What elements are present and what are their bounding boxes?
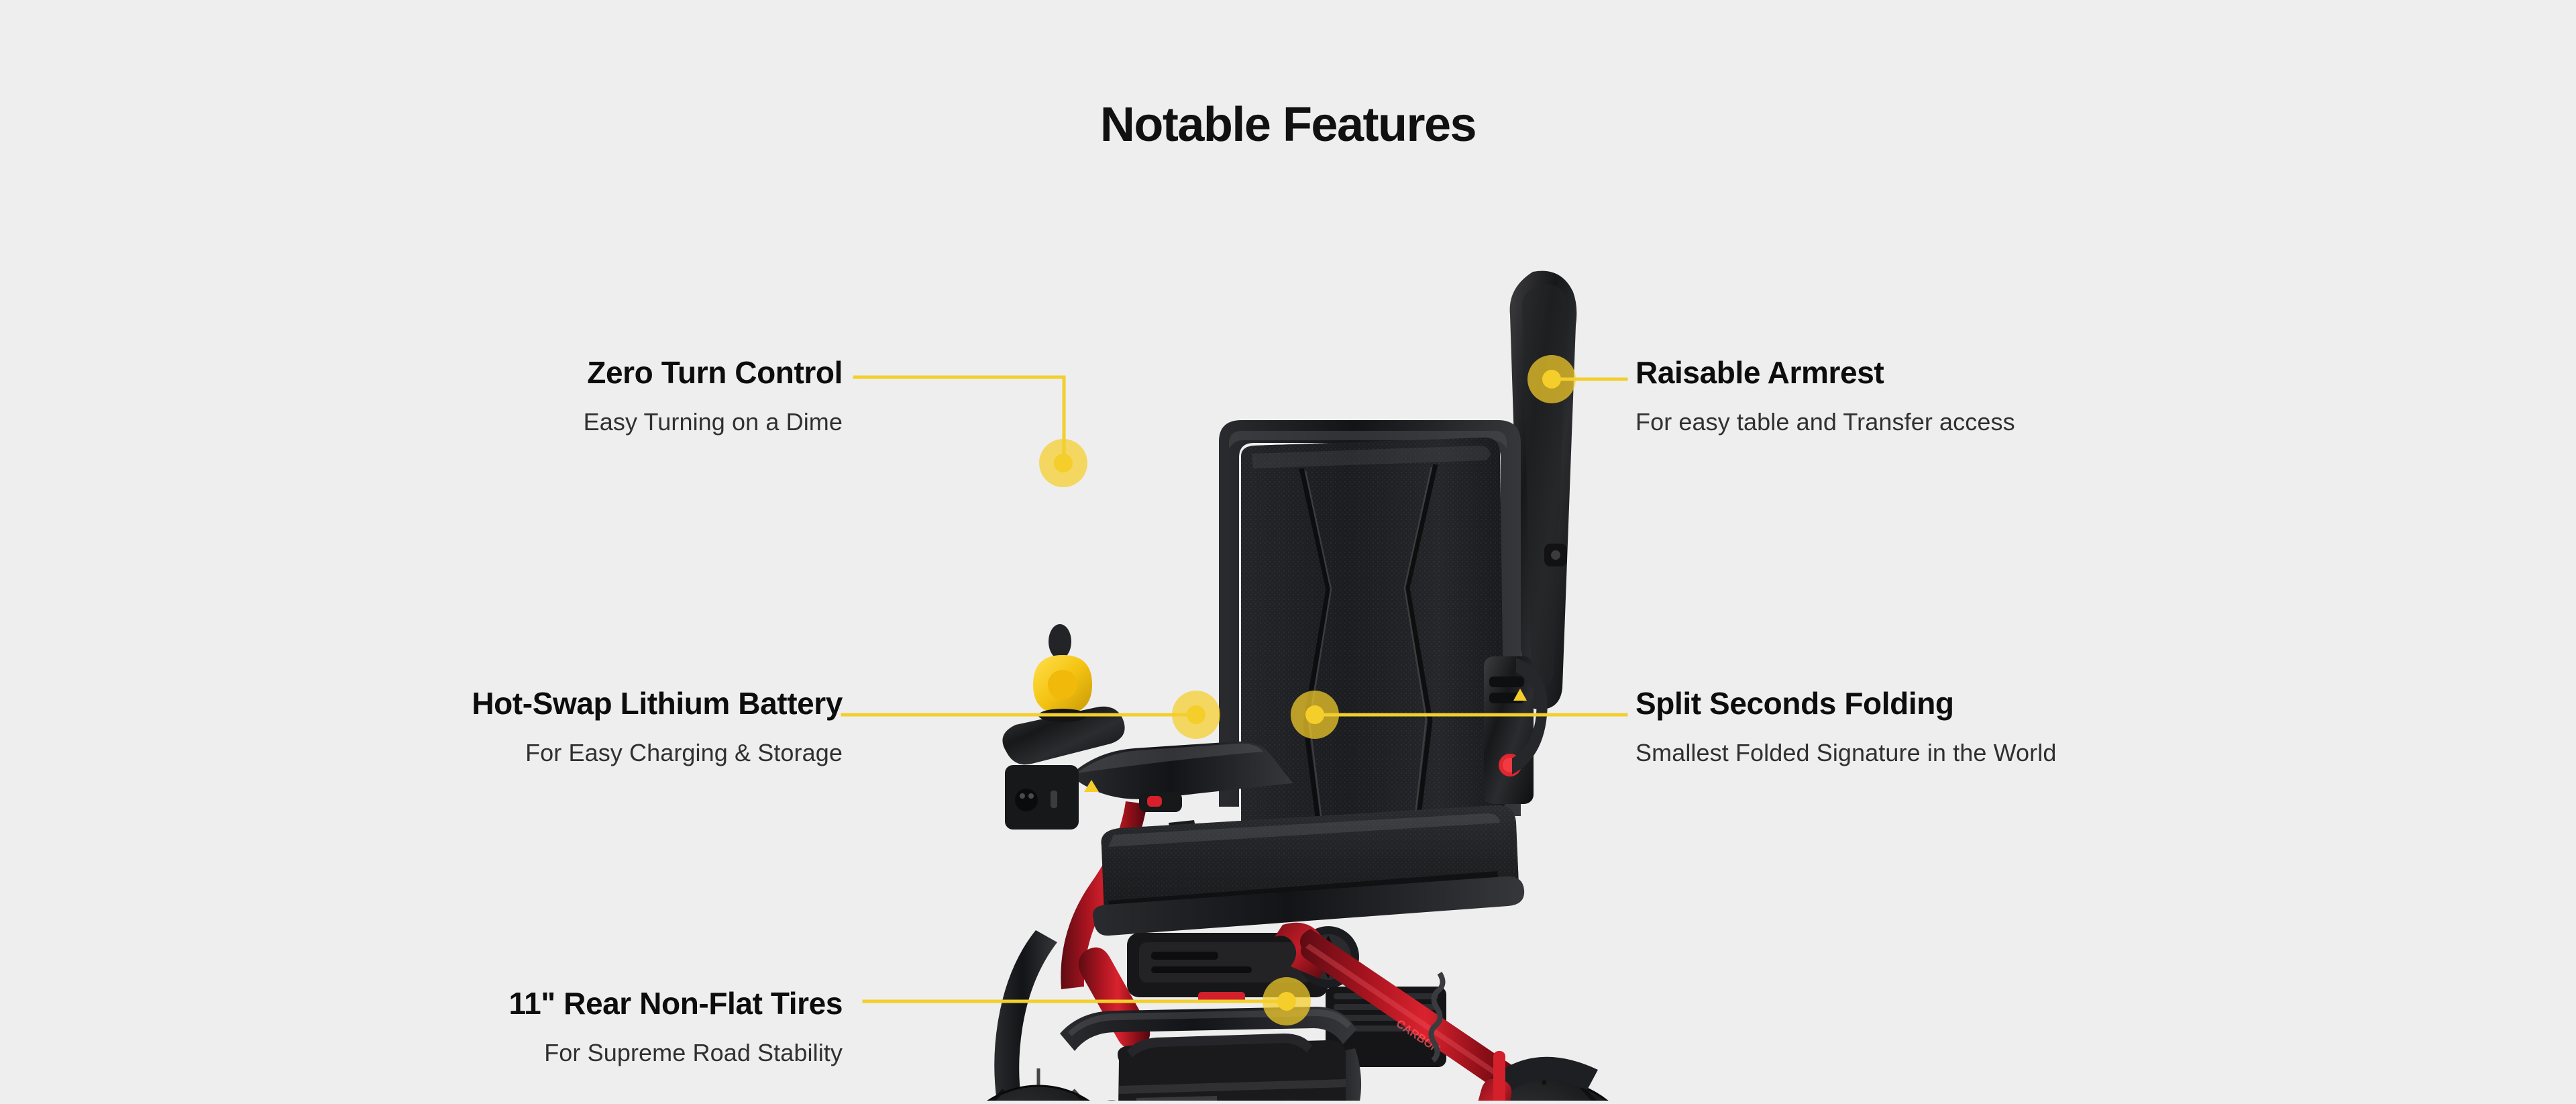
rear-release-pin — [1493, 1051, 1505, 1101]
wheelchair-illustration: CARBON — [926, 255, 1637, 1101]
feature-subtitle: For Easy Charging & Storage — [472, 740, 843, 766]
feature-zero-turn-control: Zero Turn Control Easy Turning on a Dime — [584, 356, 843, 435]
feature-title: 11" Rear Non-Flat Tires — [509, 987, 843, 1021]
feature-title: Zero Turn Control — [584, 356, 843, 390]
feature-title: Raisable Armrest — [1635, 356, 2015, 390]
right-control-bracket — [1484, 656, 1548, 804]
product-image-wheelchair: CARBON — [926, 255, 1637, 1101]
feature-split-seconds-folding: Split Seconds Folding Smallest Folded Si… — [1635, 687, 2056, 766]
feature-rear-non-flat-tires: 11" Rear Non-Flat Tires For Supreme Road… — [509, 987, 843, 1066]
feature-subtitle: Smallest Folded Signature in the World — [1635, 740, 2056, 766]
front-left-wheel — [947, 1068, 1130, 1101]
feature-hot-swap-lithium-battery: Hot-Swap Lithium Battery For Easy Chargi… — [472, 687, 843, 766]
feature-subtitle: For Supreme Road Stability — [509, 1040, 843, 1066]
feature-subtitle: Easy Turning on a Dime — [584, 409, 843, 436]
feature-subtitle: For easy table and Transfer access — [1635, 409, 2015, 436]
feature-raisable-armrest: Raisable Armrest For easy table and Tran… — [1635, 356, 2015, 435]
feature-title: Hot-Swap Lithium Battery — [472, 687, 843, 721]
storage-bag — [1118, 1034, 1346, 1101]
page-title: Notable Features — [0, 101, 2576, 149]
feature-title: Split Seconds Folding — [1635, 687, 2056, 721]
